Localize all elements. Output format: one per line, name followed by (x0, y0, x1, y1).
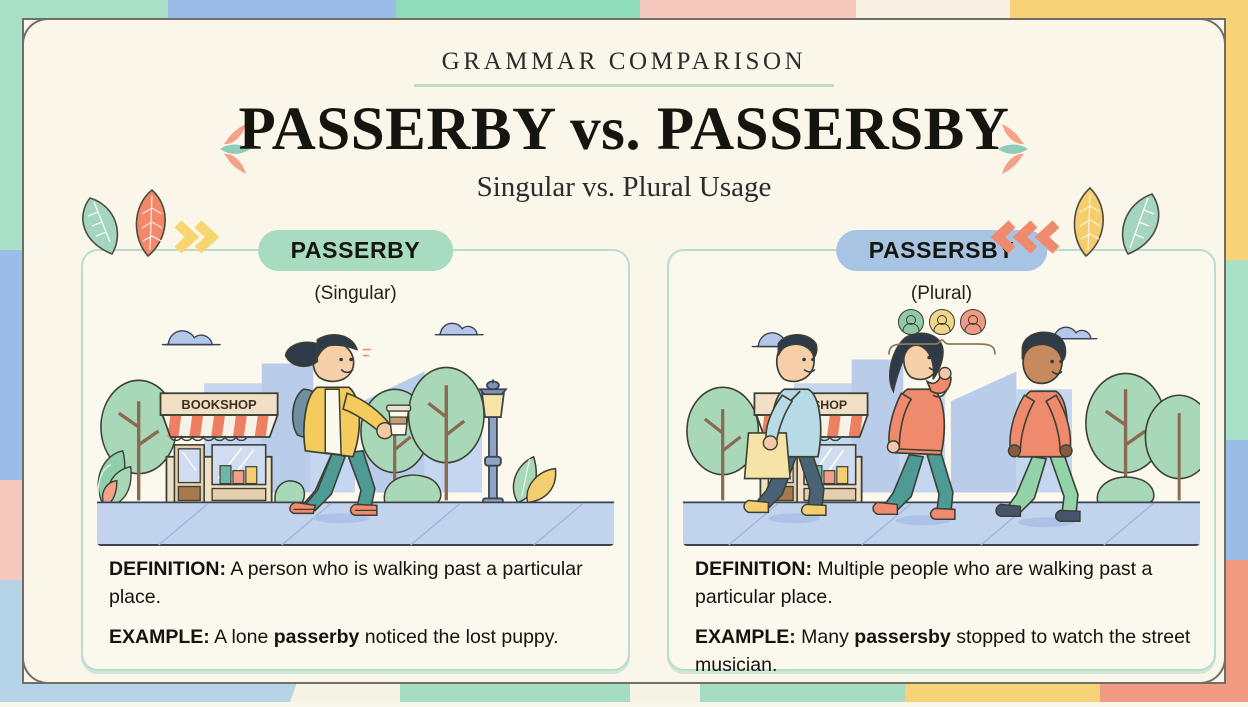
eyebrow-label: GRAMMAR COMPARISON (24, 48, 1224, 76)
main-panel: GRAMMAR COMPARISON PASSERBY vs. PASSERSB… (22, 18, 1226, 684)
card-passersby: PASSERSBY (Plural) (667, 249, 1216, 671)
illustration-singular: BOOKSHOP (97, 305, 614, 546)
pill-passerby: PASSERBY (258, 230, 454, 271)
group-brace-icon (887, 339, 997, 355)
example-keyword-right: passersby (854, 626, 950, 648)
shop-sign-left: BOOKSHOP (181, 397, 257, 412)
example-right: EXAMPLE: Many passersby stopped to watch… (695, 624, 1192, 679)
card-left-text: DEFINITION: A person who is walking past… (109, 556, 606, 652)
avatar-person-3-icon (960, 309, 986, 335)
definition-right: DEFINITION: Multiple people who are walk… (695, 556, 1192, 611)
definition-label-right: DEFINITION: (695, 558, 812, 580)
example-label-left: EXAMPLE: (109, 626, 210, 648)
street-scene-singular: BOOKSHOP (97, 305, 614, 546)
example-post-left: noticed the lost puppy. (359, 626, 558, 648)
corner-notch-top-right (1200, 18, 1226, 44)
card-passerby: PASSERBY (Singular) (81, 249, 630, 671)
sub-label-singular: (Singular) (83, 283, 628, 305)
right-card-decoration (976, 180, 1186, 258)
corner-notch-top-left (22, 18, 48, 44)
avatar-person-1-icon (898, 309, 924, 335)
eyebrow-divider (414, 84, 834, 87)
avatar-group (898, 309, 986, 335)
definition-left: DEFINITION: A person who is walking past… (109, 556, 606, 611)
example-left: EXAMPLE: A lone passerby noticed the los… (109, 624, 606, 652)
example-pre-left: A lone (210, 626, 274, 648)
example-pre-right: Many (796, 626, 855, 648)
example-label-right: EXAMPLE: (695, 626, 796, 648)
corner-notch-bottom-left (22, 658, 48, 684)
sub-label-plural: (Plural) (669, 283, 1214, 305)
card-right-text: DEFINITION: Multiple people who are walk… (695, 556, 1192, 680)
example-keyword-left: passerby (274, 626, 360, 648)
left-card-decoration (72, 180, 272, 258)
avatar-person-2-icon (929, 309, 955, 335)
definition-label-left: DEFINITION: (109, 558, 226, 580)
page-title: PASSERBY vs. PASSERSBY (24, 99, 1224, 162)
